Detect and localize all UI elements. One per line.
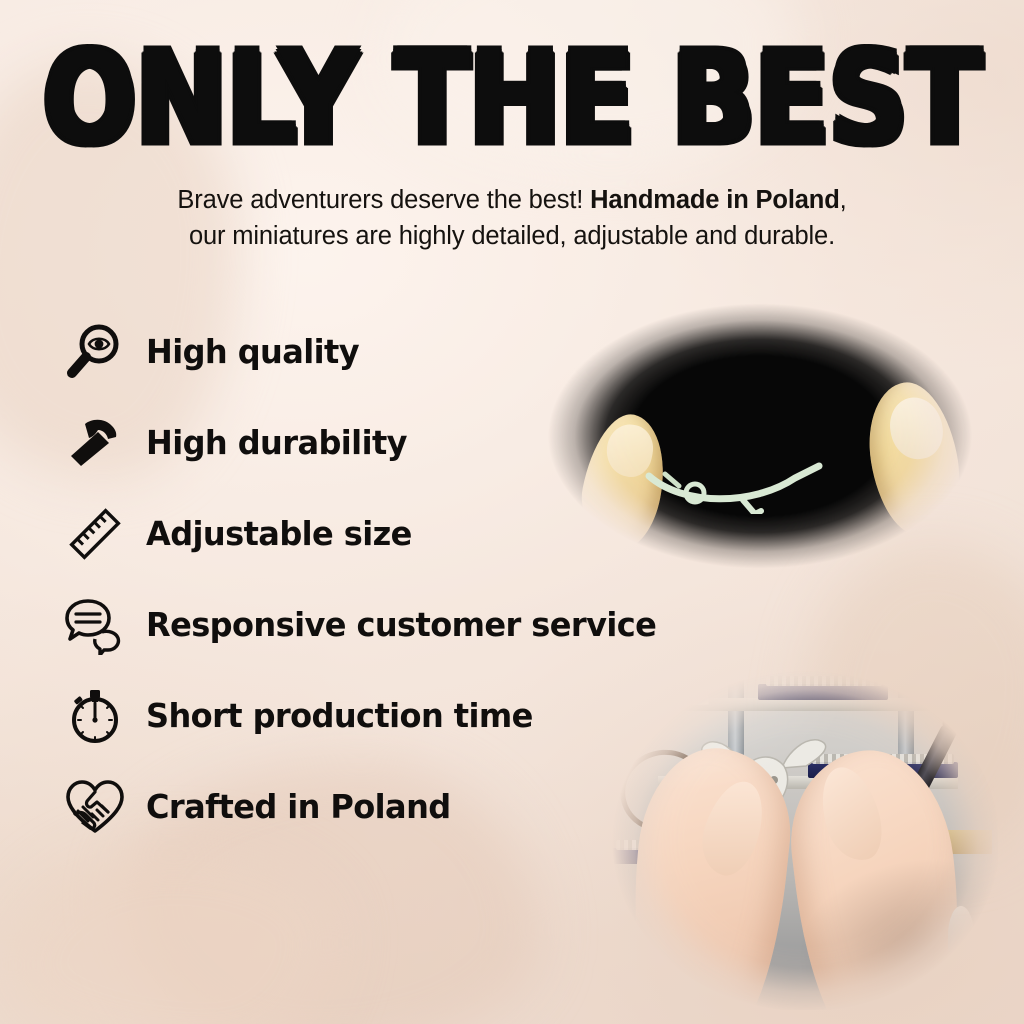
feature-label: High durability [146,423,407,462]
stopwatch-icon [62,683,128,749]
feature-label: Crafted in Poland [146,787,451,826]
feature-item-customer-service: Responsive customer service [62,579,782,670]
feature-label: Short production time [146,696,533,735]
subtitle: Brave adventurers deserve the best! Hand… [62,182,962,254]
feature-list: High quality High durability Adj [62,306,782,852]
feature-item-high-quality: High quality [62,306,782,397]
subtitle-lead: Brave adventurers deserve the best! [177,186,590,214]
feature-item-production-time: Short production time [62,670,782,761]
speech-bubbles-icon [62,592,128,658]
feature-item-adjustable-size: Adjustable size [62,488,782,579]
feature-label: High quality [146,332,359,371]
background-texture-blotch [0,844,340,1024]
feature-item-crafted-in-poland: Crafted in Poland [62,761,782,852]
ruler-icon [62,501,128,567]
promo-graphic: 2 ONLY THE BEST Brave adventurers d [0,0,1024,1024]
subtitle-tail: , [840,186,847,214]
subtitle-highlight: Handmade in Poland [590,186,840,214]
magnifier-eye-icon [62,319,128,385]
feature-label: Adjustable size [146,514,412,553]
heart-handshake-icon [62,774,128,840]
miniature-sprues [766,676,882,686]
page-title: ONLY THE BEST [0,36,1024,163]
thumbnail-right [886,394,947,463]
subtitle-line-2: our miniatures are highly detailed, adju… [189,222,835,250]
feature-item-high-durability: High durability [62,397,782,488]
feature-label: Responsive customer service [146,605,656,644]
hammer-icon [62,410,128,476]
